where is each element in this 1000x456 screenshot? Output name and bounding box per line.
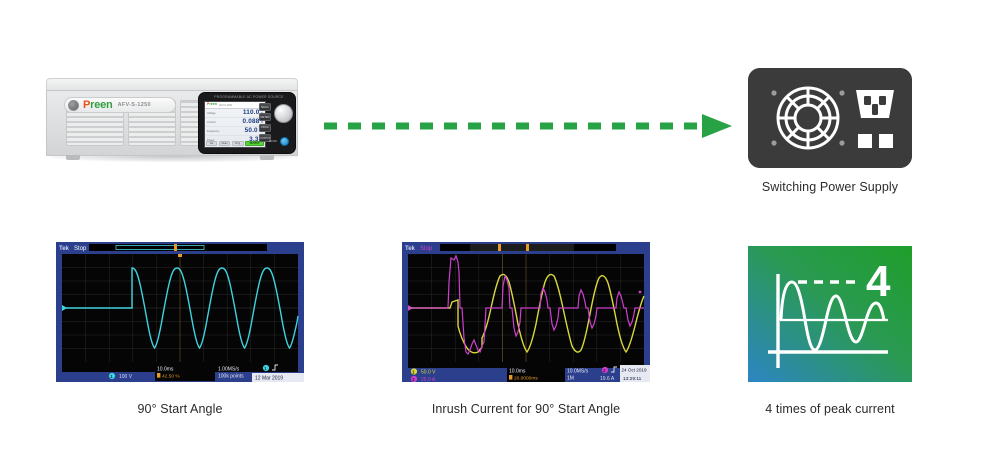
lcd-key-prog[interactable]: PROG [259,124,271,132]
scope1-sample-rate: 1.00MS/s [218,367,240,373]
lcd-soft-button-prog[interactable]: Prog [232,141,244,147]
output-enable-button[interactable] [280,137,289,146]
lcd-soft-button-meas[interactable]: Meas [219,141,231,147]
scope2-sample-rate: 10.0MS/s [567,369,589,375]
scope2-delay-marker-top [526,244,529,251]
lcd-reading-voltage-value: 110.0 [243,110,260,116]
lcd-key-meter[interactable]: METER [259,113,271,121]
scope1-timebase: 10.0ms [157,367,174,373]
scope1-trigger-pos-icon [157,373,160,378]
lcd-module-caption: PROGRAMMABLE AC POWER SOURCE [213,95,285,99]
scope2-run-state: Stop [420,246,433,252]
ac-inlet-icon [856,90,894,118]
device-foot-right [260,155,274,160]
scope1-trigger-marker [178,254,182,257]
lcd-header: Preen AFV-S-1250 [205,102,265,109]
brand-plate: Preen AFV-S-1250 [64,97,176,113]
scope2-time: 13:29:11 [623,376,642,382]
scope2-ch2-scale: 25.0 A [421,377,436,382]
peak-current-caption: 4 times of peak current [710,402,950,416]
lcd-logo-model: AFV-S-1250 [219,104,232,107]
scope2-topbar-window [470,244,574,251]
peak-current-illustration: 4 [748,246,912,382]
rotary-encoder-knob[interactable] [274,104,293,123]
scope1-trigger-source-badge[interactable]: 1 [263,365,269,371]
scope2-trigger-level: 19.6 A [600,376,615,382]
scope2-caption: Inrush Current for 90° Start Angle [376,402,676,416]
scope2-ch1-scale: 50.0 V [421,370,436,376]
scope1-brand: Tek [59,246,70,252]
oscilloscope-screenshot-inrush-current: Tek Stop [402,242,650,382]
scope1-frame: Tek Stop [56,242,304,382]
diagram-canvas: Preen AFV-S-1250 PROGRAMMABLE AC POWER S… [0,0,1000,456]
peak-card-svg: 4 [748,246,912,382]
lcd-reading-voltage: Voltage 110.0 V [205,109,265,118]
fan-screw-icon-tl [771,90,776,95]
scope2-trigger-delay: 20.0000ms [514,376,538,382]
scope1-run-state: Stop [74,246,87,252]
lcd-reading-frequency-label: Frequency [207,130,219,133]
scope1-ch1-scale: 100 V [119,374,133,380]
switching-power-supply-card [748,68,912,168]
lcd-module: PROGRAMMABLE AC POWER SOURCE Preen AFV-S… [198,92,296,154]
switching-power-supply-caption: Switching Power Supply [708,180,952,194]
lcd-soft-button-bar: Set Meas Prog OUTPUT [205,140,265,147]
brand-logo-rest: reen [90,99,112,111]
scope1-trigger-pos: 42.50 % [162,374,180,380]
ac-power-source-device: Preen AFV-S-1250 PROGRAMMABLE AC POWER S… [46,78,298,168]
scope2-ch2-cursor-dot [639,291,642,294]
rotary-encoder-label: ENTER [269,141,277,144]
lcd-logo-rest: reen [209,103,217,107]
lcd-reading-voltage-label: Voltage [207,112,216,115]
scope1-caption: 90° Start Angle [30,402,330,416]
flow-arrow-head-icon [702,114,732,138]
oscilloscope-screenshot-start-angle: Tek Stop [56,242,304,382]
lcd-reading-current-value: 0.088 [242,119,259,125]
power-button-icon[interactable] [68,100,79,111]
scope2-timebase: 10.0ms [509,369,526,375]
scope2-brand: Tek [405,246,416,252]
scope2-frame: Tek Stop [402,242,650,382]
lcd-side-key-column: MENU METER PROG OUTPUT [259,103,271,142]
lcd-screen[interactable]: Preen AFV-S-1250 Voltage 110.0 V Current… [204,101,266,148]
switching-power-supply-block: Switching Power Supply [748,68,912,168]
lcd-soft-button-set[interactable]: Set [206,141,218,147]
fan-screw-icon-br [839,140,844,145]
scope1-trigger-marker-top [174,244,177,251]
scope2-record-length: 1M [567,376,574,382]
peak-multiplier-label: 4 [866,257,891,306]
device-model-label: AFV-S-1250 [118,102,151,108]
fan-screw-icon-tr [839,90,844,95]
scope1-date: 12 Mar 2019 [255,376,283,382]
scope2-trigger-source-badge[interactable]: 2 [602,367,608,373]
lcd-reading-frequency-value: 50.0 [245,128,258,134]
fan-screw-icon-bl [771,140,776,145]
scope2-date: 24 Oct 2019 [622,367,647,372]
brand-logo: Preen [83,100,113,111]
scope1-ch1-badge[interactable]: 1 [109,373,115,379]
lcd-reading-current-label: Current [207,121,216,124]
scope2-ch2-badge[interactable]: 2 [411,376,417,382]
flow-arrow [322,112,734,140]
scope2-trigger-delay-icon [509,375,512,380]
lcd-reading-frequency: Frequency 50.0 Hz [205,127,265,136]
device-foot-left [66,155,80,160]
scope2-ch1-badge[interactable]: 1 [411,368,417,374]
scope2-trigger-marker-top [498,244,501,251]
scope1-record-length: 100k points [218,374,244,380]
lcd-key-menu[interactable]: MENU [259,103,271,111]
lcd-reading-current: Current 0.088 A [205,118,265,127]
